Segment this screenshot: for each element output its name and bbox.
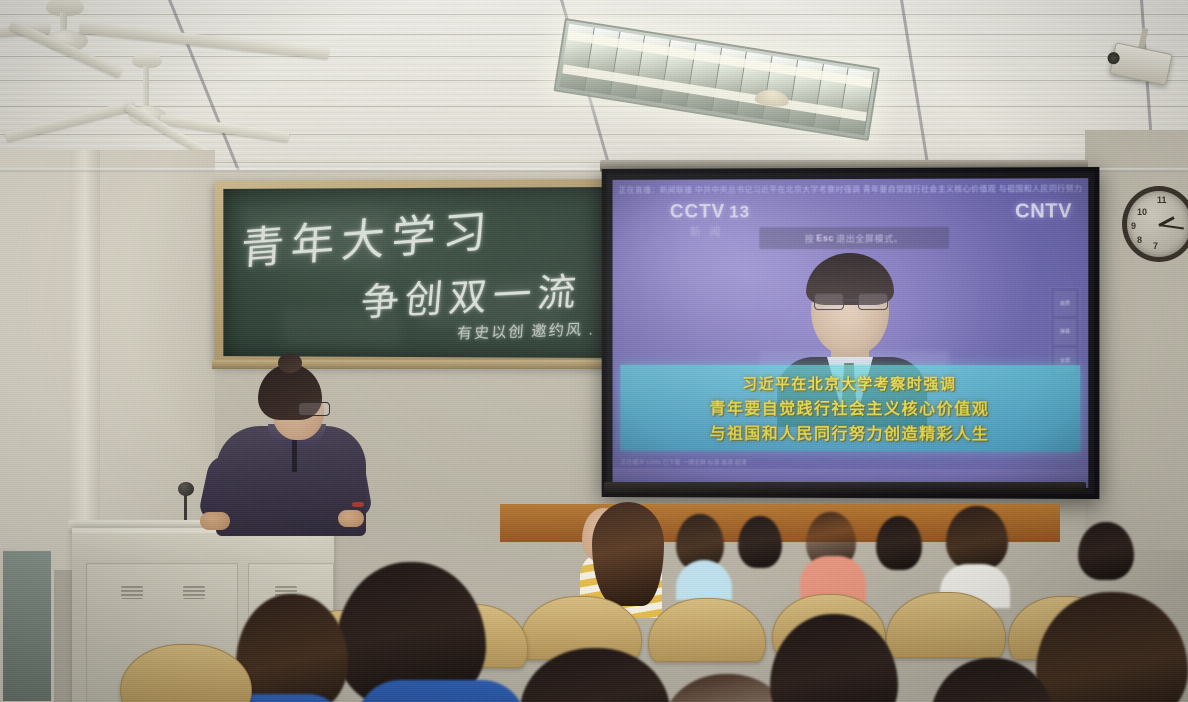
presenter-placket <box>292 438 297 472</box>
audience-torso-foreground <box>356 680 526 702</box>
wall-column <box>70 150 100 530</box>
blackboard: 青年大学习 争创双一流 有史以创 邀约风 . <box>215 179 615 367</box>
clock-number: 8 <box>1137 235 1142 245</box>
seat-back <box>648 598 766 662</box>
audience-head <box>946 506 1008 570</box>
microphone-head-icon <box>178 482 194 496</box>
audience-head <box>876 516 922 570</box>
screen-vignette <box>613 178 1089 488</box>
classroom-photo: 11 10 9 8 7 青年大学习 争创双一流 有史以创 邀约风 . 正在直播：… <box>0 0 1188 702</box>
chalkboard-line-3: 有史以创 邀约风 . <box>456 318 595 344</box>
audience-seating <box>0 498 1188 702</box>
chalkboard-line-1: 青年大学习 <box>240 195 496 278</box>
audience-hair <box>592 502 664 606</box>
wall-clock: 11 10 9 8 7 <box>1122 186 1188 262</box>
presenter-hair-bun <box>278 353 302 373</box>
clock-number: 7 <box>1153 241 1158 251</box>
projection-screen[interactable]: 正在直播：新闻联播 中共中央总书记习近平在北京大学考察时强调 青年要自觉践行社会… <box>602 167 1100 499</box>
chalkboard-line-2: 争创双一流 <box>359 260 585 327</box>
clock-number: 11 <box>1157 195 1167 205</box>
blackboard-surface: 青年大学习 争创双一流 有史以创 邀约风 . <box>223 187 605 358</box>
clock-number: 9 <box>1131 221 1136 231</box>
clock-number: 10 <box>1137 207 1147 217</box>
clock-minute-hand <box>1159 224 1184 229</box>
screen-bottom-bar <box>604 482 1086 493</box>
presenter-glasses-icon <box>298 402 330 416</box>
seat-back <box>120 644 252 702</box>
broadcast-video[interactable]: 正在直播：新闻联播 中共中央总书记习近平在北京大学考察时强调 青年要自觉践行社会… <box>613 178 1089 488</box>
audience-head <box>738 516 782 568</box>
audience-head <box>1078 522 1134 580</box>
